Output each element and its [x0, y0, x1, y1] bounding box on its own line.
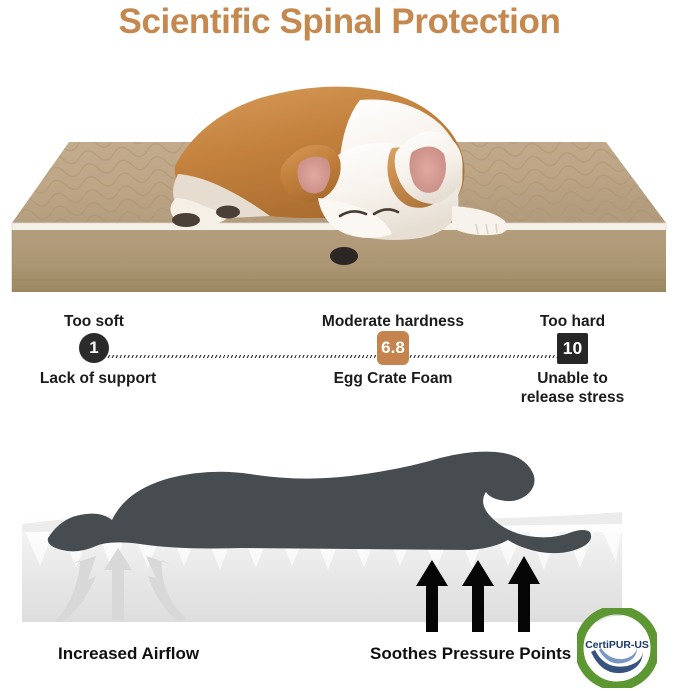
- certipur-logo-svg: CONTAINS CERTIFIED FLEXIBLE POLYURETHANE…: [577, 608, 657, 688]
- scale-bottom-label-line1: Unable to: [506, 369, 639, 388]
- infographic-root: Scientific Spinal Protection: [0, 0, 679, 691]
- scale-value-badge-68: 6.8: [377, 331, 409, 365]
- certipur-brand-part-2: PUR: [609, 640, 631, 651]
- dog-paw-pad-left: [172, 213, 200, 227]
- scale-badge-row: 1: [24, 331, 164, 365]
- scale-stop-top-label: Too hard: [506, 312, 639, 331]
- scale-stop-top-label: Moderate hardness: [313, 312, 473, 331]
- dog-nose: [330, 247, 358, 265]
- scale-bottom-label-line2: release stress: [506, 388, 639, 407]
- scale-value-badge-10: 10: [557, 333, 588, 364]
- certipur-brand-part-3: -US: [631, 640, 649, 651]
- scale-stop-moderate: Moderate hardness 6.8 Egg Crate Foam: [313, 312, 473, 388]
- hero-product-photo: [0, 48, 679, 298]
- scale-stop-bottom-label: Unable to release stress: [506, 369, 639, 407]
- scale-badge-row: 10: [506, 331, 639, 365]
- certipur-us-badge: CONTAINS CERTIFIED FLEXIBLE POLYURETHANE…: [577, 608, 657, 688]
- scale-stop-top-label: Too soft: [24, 312, 164, 331]
- hardness-scale: Too soft 1 Lack of support Moderate hard…: [0, 312, 679, 412]
- dog-paw-pad-right: [216, 206, 240, 219]
- certipur-wordmark: CertiPUR-US: [585, 640, 649, 651]
- scale-stop-bottom-label: Egg Crate Foam: [313, 369, 473, 388]
- page-title: Scientific Spinal Protection: [0, 2, 679, 42]
- pressure-arrows: [416, 556, 540, 632]
- airflow-label: Increased Airflow: [58, 644, 199, 664]
- pressure-points-label: Soothes Pressure Points: [370, 644, 571, 664]
- svg-text:CertiPUR-US: CertiPUR-US: [585, 640, 649, 651]
- foam-diagram-svg: [0, 420, 679, 634]
- dog-on-bed-illustration: [0, 48, 679, 298]
- scale-stop-bottom-label: Lack of support: [32, 369, 164, 388]
- dog-silhouette: [48, 452, 591, 554]
- scale-stop-too-soft: Too soft 1 Lack of support: [24, 312, 164, 388]
- scale-value-badge-1: 1: [79, 333, 109, 363]
- scale-stop-too-hard: Too hard 10 Unable to release stress: [506, 312, 639, 407]
- scale-badge-row: 6.8: [313, 331, 473, 365]
- certipur-brand-part-1: Certi: [585, 640, 609, 651]
- foam-cross-section-diagram: [0, 420, 679, 634]
